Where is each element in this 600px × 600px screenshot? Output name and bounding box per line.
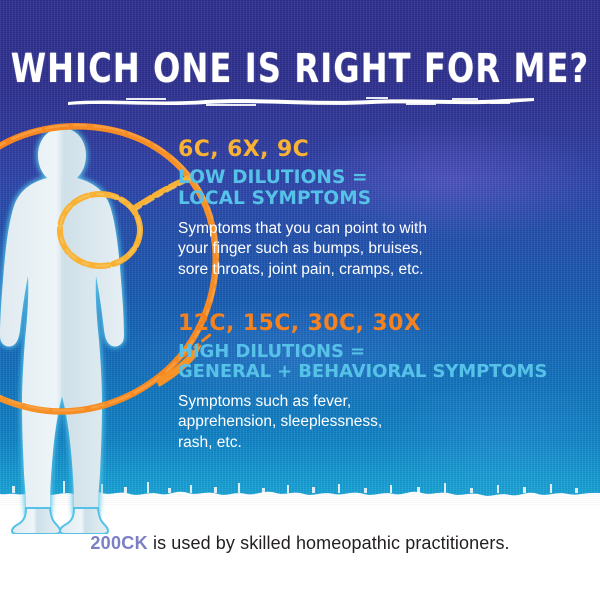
subhead-low: LOW DILUTIONS = LOCAL SYMPTOMS: [178, 168, 427, 210]
subhead-high-line2: GENERAL + BEHAVIORAL SYMPTOMS: [178, 362, 547, 382]
body-copy-high-line2: apprehension, sleeplessness,: [178, 412, 547, 432]
page-title: WHICH ONE IS RIGHT FOR ME?: [9, 44, 591, 92]
subhead-low-line1: LOW DILUTIONS =: [178, 168, 427, 189]
body-copy-low: Symptoms that you can point to with your…: [178, 219, 427, 280]
body-copy-high: Symptoms such as fever, apprehension, sl…: [178, 392, 547, 453]
potency-label-low: 6C, 6X, 9C: [178, 139, 427, 161]
title-underline-brush: [66, 96, 536, 108]
body-copy-low-line3: sore throats, joint pain, cramps, etc.: [178, 260, 427, 280]
subhead-high: HIGH DILUTIONS = GENERAL + BEHAVIORAL SY…: [178, 342, 547, 383]
body-copy-high-line3: rash, etc.: [178, 433, 547, 453]
footer-note: 200CK is used by skilled homeopathic pra…: [0, 533, 600, 554]
subhead-low-line2: LOCAL SYMPTOMS: [178, 189, 427, 210]
potency-label-high: 12C, 15C, 30C, 30X: [178, 313, 547, 335]
body-copy-low-line1: Symptoms that you can point to with: [178, 219, 427, 239]
body-copy-low-line2: your finger such as bumps, bruises,: [178, 239, 427, 259]
dilution-block-high: 12C, 15C, 30C, 30X HIGH DILUTIONS = GENE…: [178, 313, 547, 453]
body-copy-high-line1: Symptoms such as fever,: [178, 392, 547, 412]
subhead-high-line1: HIGH DILUTIONS =: [178, 342, 547, 362]
footer-potency-label: 200CK: [90, 533, 148, 553]
dilution-block-low: 6C, 6X, 9C LOW DILUTIONS = LOCAL SYMPTOM…: [178, 139, 427, 280]
infographic-poster: WHICH ONE IS RIGHT FOR ME? 6C, 6X, 9C LO…: [0, 0, 600, 600]
human-silhouette: [0, 122, 162, 534]
footer-note-text: is used by skilled homeopathic practitio…: [148, 533, 510, 553]
